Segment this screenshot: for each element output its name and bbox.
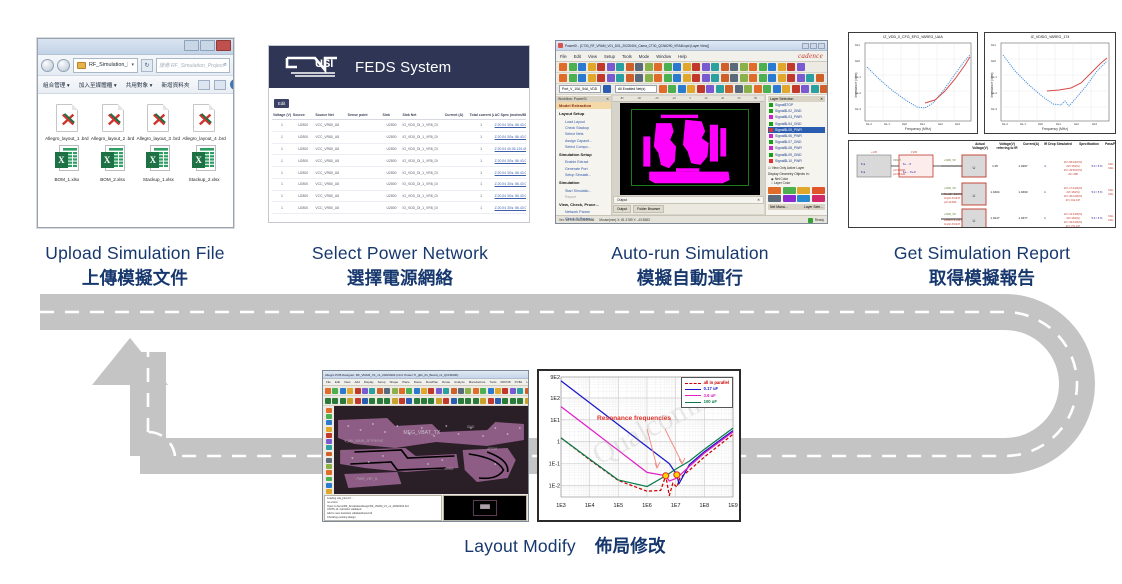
report-cell-ir-drop: dV=-39.6443(%) bbox=[1064, 221, 1082, 224]
menu-shape[interactable]: Shape bbox=[390, 380, 399, 384]
toolbar-button-icon[interactable] bbox=[369, 388, 375, 394]
side-tool-icon[interactable] bbox=[326, 427, 332, 432]
allegro-menu-bar[interactable]: FileEditViewAddDisplaySetupShapePlaceRou… bbox=[323, 379, 528, 386]
layer-label: Signal$L07_GND bbox=[775, 140, 801, 144]
toolbar-button-icon[interactable] bbox=[406, 388, 412, 394]
workflow-panel[interactable]: Workflow: PowerSI ✕ Model ExtractionLayo… bbox=[556, 95, 612, 215]
toolbar-button-icon[interactable] bbox=[510, 398, 516, 404]
table-row[interactable]: 1U2800VCC_VR80_U8U2800IG_VDD_DI_1_VR8_DI… bbox=[272, 202, 526, 214]
powersi-toolbar-secondary[interactable] bbox=[556, 73, 827, 84]
toolbar-button-icon[interactable] bbox=[716, 85, 724, 93]
close-icon[interactable] bbox=[216, 40, 231, 51]
toolbar-button-icon[interactable] bbox=[645, 63, 653, 71]
toolbar-button-icon[interactable] bbox=[702, 63, 710, 71]
command-share-with[interactable]: 共用對象 ▾ bbox=[126, 81, 153, 89]
menu-edit[interactable]: Edit bbox=[335, 380, 340, 384]
address-path-box[interactable]: RF_Simulation_Pr... ▾ bbox=[73, 58, 138, 73]
cell-voltage: 1 bbox=[272, 155, 292, 167]
toolbar-button-icon[interactable] bbox=[421, 398, 427, 404]
toolbar-button-icon[interactable] bbox=[778, 63, 786, 71]
toolbar-button-icon[interactable] bbox=[697, 85, 705, 93]
toolbar-button-icon[interactable] bbox=[820, 85, 827, 93]
x-tick-label: 1E3 bbox=[556, 503, 566, 509]
explorer-view-controls[interactable]: ? bbox=[198, 79, 234, 90]
toolbar-button-icon[interactable] bbox=[414, 398, 420, 404]
explorer-command-bar[interactable]: 組合管理 ▾ 加入至媒體櫃 ▾ 共用對象 ▾ 新增資料夾 ? bbox=[38, 76, 233, 94]
toolbar-button-icon[interactable] bbox=[773, 85, 781, 93]
toolbar-button-icon[interactable] bbox=[588, 74, 596, 82]
toolbar-button-icon[interactable] bbox=[473, 398, 479, 404]
net-selector[interactable]: All Enabled Net(s) bbox=[615, 85, 657, 93]
help-icon[interactable]: ? bbox=[230, 79, 234, 90]
toolbar-button-icon[interactable] bbox=[392, 398, 398, 404]
toolbar-button-icon[interactable] bbox=[559, 74, 567, 82]
powersi-title-bar[interactable]: PowerSI - [CT30_RF_VRAM_V01_D01_20220404… bbox=[556, 41, 827, 51]
maximize-button[interactable] bbox=[200, 40, 215, 51]
side-tool-icon[interactable] bbox=[326, 420, 332, 425]
side-tool-icon[interactable] bbox=[326, 483, 332, 488]
side-tool-icon[interactable] bbox=[326, 458, 332, 463]
layer-tool-icon[interactable] bbox=[812, 187, 825, 194]
toolbar-button-icon[interactable] bbox=[635, 63, 643, 71]
layer-tool-icon[interactable] bbox=[797, 195, 810, 202]
edit-button[interactable]: Edit bbox=[274, 99, 289, 108]
toolbar-button-icon[interactable] bbox=[377, 398, 383, 404]
legend-swatch bbox=[685, 402, 701, 403]
allegro-canvas[interactable]: MEG_VBAT_TX GND V_MK_MAIN_2P7P4P4S 4P338… bbox=[334, 406, 528, 494]
menu-route[interactable]: Route bbox=[442, 380, 450, 384]
toolbar-button-icon[interactable] bbox=[525, 388, 528, 394]
toolbar-button-icon[interactable] bbox=[626, 74, 634, 82]
menu-analyze[interactable]: Analyze bbox=[454, 380, 465, 384]
impedance-vs-frequency-chart[interactable]: 1E31E41E51E61E71E81E9 9E21E21E111E-11E-2… bbox=[537, 369, 741, 522]
report-cell-pass-fail: FAIL bbox=[1108, 192, 1114, 196]
toolbar-button-icon[interactable] bbox=[754, 85, 762, 93]
toolbar-button-icon[interactable] bbox=[384, 398, 390, 404]
menu-place[interactable]: Place bbox=[402, 380, 410, 384]
toolbar-button-icon[interactable] bbox=[654, 74, 662, 82]
allegro-toolbar-layers[interactable] bbox=[323, 396, 528, 406]
port-apply-icon[interactable] bbox=[603, 85, 611, 93]
svg-text:1E2: 1E2 bbox=[1074, 122, 1079, 126]
xlsx-file-icon: X bbox=[136, 142, 182, 176]
preview-pane-icon[interactable] bbox=[214, 80, 226, 90]
menu-manufacture[interactable]: Manufacture bbox=[469, 380, 486, 384]
toolbar-button-icon[interactable] bbox=[759, 63, 767, 71]
toolbar-button-icon[interactable] bbox=[510, 388, 516, 394]
dc-drop-report[interactable]: Actual Voltage(V) Voltage(V) referring t… bbox=[848, 140, 1116, 228]
toolbar-button-icon[interactable] bbox=[473, 388, 479, 394]
toolbar-button-icon[interactable] bbox=[369, 398, 375, 404]
screenshot-auto-run-simulation[interactable]: PowerSI - [CT30_RF_VRAM_V01_D01_20220404… bbox=[555, 40, 828, 224]
toolbar-button-icon[interactable] bbox=[436, 398, 442, 404]
menu-tools[interactable]: Tools bbox=[489, 380, 496, 384]
toolbar-button-icon[interactable] bbox=[678, 85, 686, 93]
toolbar-button-icon[interactable] bbox=[458, 398, 464, 404]
file-item[interactable]: X BOM_2.xlsx bbox=[90, 142, 136, 183]
toolbar-button-icon[interactable] bbox=[502, 398, 508, 404]
toolbar-button-icon[interactable] bbox=[480, 388, 486, 394]
output-tabs[interactable]: Output Folder Browser bbox=[613, 205, 764, 213]
toolbar-button-icon[interactable] bbox=[749, 63, 757, 71]
port-selector[interactable]: Port_V_10A_54A_VDD bbox=[559, 85, 601, 93]
toolbar-button-icon[interactable] bbox=[406, 398, 412, 404]
cell-sink: U2800 bbox=[382, 178, 402, 190]
screenshot-get-simulation-report[interactable]: IZ_VDD_0_CFG_EFG_VAREG_UAA Frequency (MH… bbox=[848, 32, 1116, 228]
power-network-table[interactable]: Voltage (V) Source Source Net Sense poin… bbox=[272, 111, 526, 214]
side-tool-icon[interactable] bbox=[326, 452, 332, 457]
layer-tool-icon[interactable] bbox=[783, 187, 796, 194]
toolbar-button-icon[interactable] bbox=[683, 63, 691, 71]
cell-spec: Z:20.04 3Gs: 86.43 0.0194 bbox=[494, 155, 526, 167]
tab-folder-browser[interactable]: Folder Browser bbox=[633, 205, 664, 213]
report-cell-ir-drop: dV=-39.5647(%) bbox=[1064, 169, 1082, 172]
toolbar-button-icon[interactable] bbox=[392, 388, 398, 394]
cell-sink: U2800 bbox=[382, 143, 402, 155]
toolbar-button-icon[interactable] bbox=[730, 63, 738, 71]
toolbar-button-icon[interactable] bbox=[340, 398, 346, 404]
layer-tool-icon[interactable] bbox=[812, 195, 825, 202]
toolbar-button-icon[interactable] bbox=[578, 63, 586, 71]
screenshot-layout-modify-editor[interactable]: Allegro PCB Designer: RF_VRAM_V1_v1_2022… bbox=[322, 370, 529, 522]
toolbar-button-icon[interactable] bbox=[806, 74, 814, 82]
explorer-file-pane[interactable]: Allegro_layout_1 .brd Allegro_layout_2 .… bbox=[38, 94, 233, 227]
powersi-menu-bar[interactable]: File Edit View Setup Tools Mode Window H… bbox=[556, 51, 827, 62]
toolbar-button-icon[interactable] bbox=[559, 63, 567, 71]
toolbar-button-icon[interactable] bbox=[668, 85, 676, 93]
file-row-xlsx: X BOM_1.xlsx X BOM_2.xlsx bbox=[44, 142, 227, 183]
toolbar-button-icon[interactable] bbox=[721, 74, 729, 82]
toolbar-button-icon[interactable] bbox=[340, 388, 346, 394]
menu-edit[interactable]: Edit bbox=[574, 54, 581, 59]
output-label: Output bbox=[617, 198, 627, 202]
toolbar-button-icon[interactable] bbox=[436, 388, 442, 394]
allegro-world-view[interactable] bbox=[443, 495, 527, 521]
menu-add[interactable]: Add bbox=[354, 380, 359, 384]
forward-icon[interactable] bbox=[57, 59, 70, 72]
layer-tool-icon[interactable] bbox=[783, 195, 796, 202]
toolbar-button-icon[interactable] bbox=[659, 85, 667, 93]
toolbar-button-icon[interactable] bbox=[692, 74, 700, 82]
toolbar-button-icon[interactable] bbox=[384, 388, 390, 394]
close-icon[interactable]: ✕ bbox=[606, 97, 609, 101]
table-row[interactable]: 1U2800VCC_VR80_U8U2800IG_VDD_DI_1_VR8_DI… bbox=[272, 120, 526, 132]
file-item[interactable]: X BOM_1.xlsx bbox=[44, 142, 90, 183]
side-tool-icon[interactable] bbox=[326, 445, 332, 450]
toolbar-button-icon[interactable] bbox=[792, 85, 800, 93]
file-item[interactable]: Allegro_layout_3 .brd bbox=[136, 101, 182, 142]
layout-canvas[interactable]: -80-60-40-200 20406080 bbox=[612, 95, 765, 215]
cell-sink-net: IG_VDD_DI_1_VR8_DI bbox=[401, 131, 443, 143]
menu-file[interactable]: File bbox=[326, 380, 331, 384]
side-tool-icon[interactable] bbox=[326, 414, 332, 419]
impedance-plot-left[interactable]: IZ_VDD_0_CFG_EFG_VAREG_UAA Frequency (MH… bbox=[848, 32, 978, 134]
radio-layer-color[interactable]: ○ Layer Color bbox=[768, 181, 825, 185]
file-item[interactable]: Allegro_layout_1 .brd bbox=[44, 101, 90, 142]
layer-color-swatch bbox=[769, 122, 773, 126]
toolbar-button-icon[interactable] bbox=[673, 63, 681, 71]
toolbar-button-icon[interactable] bbox=[428, 398, 434, 404]
explorer-title-bar[interactable] bbox=[38, 39, 233, 55]
toolbar-button-icon[interactable] bbox=[488, 398, 494, 404]
menu-setup[interactable]: Setup bbox=[378, 380, 386, 384]
toolbar-button-icon[interactable] bbox=[687, 85, 695, 93]
report-cell: 4 bbox=[1044, 164, 1046, 168]
toolbar-button-icon[interactable] bbox=[414, 388, 420, 394]
toolbar-button-icon[interactable] bbox=[811, 85, 819, 93]
toolbar-button-icon[interactable] bbox=[428, 388, 434, 394]
toolbar-button-icon[interactable] bbox=[735, 85, 743, 93]
window-controls[interactable] bbox=[802, 43, 825, 49]
console-line: Checking existing design. bbox=[327, 516, 439, 520]
toolbar-button-icon[interactable] bbox=[763, 85, 771, 93]
toolbar-button-icon[interactable] bbox=[399, 398, 405, 404]
toolbar-button-icon[interactable] bbox=[578, 74, 586, 82]
toolbar-button-icon[interactable] bbox=[362, 388, 368, 394]
table-row[interactable]: 1U2800VCC_VR80_U8U2800IG_VDD_DI_1_VR8_DI… bbox=[272, 178, 526, 190]
toolbar-button-icon[interactable] bbox=[588, 63, 596, 71]
powersi-toolbar-selectors[interactable]: Port_V_10A_54A_VDD All Enabled Net(s) bbox=[556, 84, 827, 95]
allegro-title-bar[interactable]: Allegro PCB Designer: RF_VRAM_V1_v1_2022… bbox=[323, 371, 528, 379]
toolbar-button-icon[interactable] bbox=[458, 388, 464, 394]
x-tick-label: 1E5 bbox=[614, 503, 624, 509]
command-new-folder[interactable]: 新增資料夾 bbox=[161, 81, 189, 89]
table-row[interactable]: 1U2800VCC_VR80_U8U2800IG_VDD_DI_1_VR8_DI… bbox=[272, 143, 526, 155]
maximize-button[interactable] bbox=[810, 43, 817, 49]
toolbar-button-icon[interactable] bbox=[488, 388, 494, 394]
tab-layer-selection[interactable]: Layer Sele... bbox=[804, 205, 823, 209]
toolbar-button-icon[interactable] bbox=[711, 74, 719, 82]
layer-label: Signal$L03_PWR bbox=[775, 115, 802, 119]
allegro-command-console[interactable]: Loading cds_plot.cnf ...no errors.Open C… bbox=[324, 495, 442, 521]
toolbar-button-icon[interactable] bbox=[740, 63, 748, 71]
menu-rfpcb[interactable]: RFPCB bbox=[500, 380, 510, 384]
side-tool-icon[interactable] bbox=[326, 464, 332, 469]
file-item[interactable]: Allegro_layout_2 .brd bbox=[90, 101, 136, 142]
toolbar-button-icon[interactable] bbox=[797, 63, 805, 71]
toolbar-button-icon[interactable] bbox=[465, 398, 471, 404]
toolbar-button-icon[interactable] bbox=[480, 398, 486, 404]
view-only-active-layer-checkbox[interactable]: ☑ View Only Active Layer bbox=[768, 166, 825, 170]
toolbar-button-icon[interactable] bbox=[502, 388, 508, 394]
change-view-icon[interactable] bbox=[198, 80, 210, 90]
table-row[interactable]: 1U2800VCC_VR80_U8U2800IG_VDD_DI_1_VR8_DI… bbox=[272, 155, 526, 167]
caption-en: Select Power Network bbox=[285, 241, 515, 266]
menu-display[interactable]: Display bbox=[364, 380, 374, 384]
toolbar-button-icon[interactable] bbox=[465, 388, 471, 394]
side-tool-icon[interactable] bbox=[326, 433, 332, 438]
toolbar-button-icon[interactable] bbox=[355, 398, 361, 404]
menu-view[interactable]: View bbox=[588, 54, 597, 59]
status-text: Ready bbox=[815, 218, 824, 222]
layer-tool-icon[interactable] bbox=[768, 187, 781, 194]
toolbar-button-icon[interactable] bbox=[517, 398, 523, 404]
toolbar-button-icon[interactable] bbox=[654, 63, 662, 71]
toolbar-button-icon[interactable] bbox=[645, 74, 653, 82]
feds-header: USI FEDS System bbox=[269, 46, 529, 88]
command-add-to-library[interactable]: 加入至媒體櫃 ▾ bbox=[79, 81, 117, 89]
close-icon[interactable] bbox=[818, 43, 825, 49]
toolbar-button-icon[interactable] bbox=[797, 74, 805, 82]
toolbar-button-icon[interactable] bbox=[525, 398, 528, 404]
toolbar-button-icon[interactable] bbox=[768, 63, 776, 71]
layer-color-swatch bbox=[769, 128, 773, 132]
pcb-copper-layer: MEG_VBAT_TX GND V_MK_MAIN_2P7P4P4S 4P338… bbox=[334, 406, 528, 494]
side-tool-icon[interactable] bbox=[326, 408, 332, 413]
impedance-plot-right[interactable]: IZ_VDSIG_VAREG_174 Frequency (MHz) Imped… bbox=[984, 32, 1116, 134]
cell-source-net: VCC_VR80_U8 bbox=[314, 131, 346, 143]
toolbar-button-icon[interactable] bbox=[355, 388, 361, 394]
layer-tool-icons[interactable] bbox=[768, 187, 825, 203]
side-tool-icon[interactable] bbox=[326, 470, 332, 475]
menu-setup[interactable]: Setup bbox=[604, 54, 615, 59]
layer-tool-icon[interactable] bbox=[768, 195, 781, 202]
toolbar-button-icon[interactable] bbox=[517, 388, 523, 394]
back-icon[interactable] bbox=[41, 59, 54, 72]
table-row[interactable]: 1U2800VCC_VR80_U8U2800IG_VDD_DI_1_VR8_DI… bbox=[272, 131, 526, 143]
toolbar-button-icon[interactable] bbox=[744, 85, 752, 93]
toolbar-button-icon[interactable] bbox=[451, 398, 457, 404]
allegro-side-toolbar[interactable] bbox=[323, 406, 334, 494]
side-tool-icon[interactable] bbox=[326, 439, 332, 444]
toolbar-button-icon[interactable] bbox=[749, 74, 757, 82]
toolbar-button-icon[interactable] bbox=[778, 74, 786, 82]
svg-text:1E-1: 1E-1 bbox=[855, 75, 861, 79]
refresh-icon[interactable]: ↻ bbox=[141, 59, 153, 72]
toolbar-button-icon[interactable] bbox=[347, 388, 353, 394]
menu-window[interactable]: Window bbox=[656, 54, 671, 59]
toolbar-button-icon[interactable] bbox=[569, 74, 577, 82]
output-panel[interactable]: Output ✕ Output Folder Browser bbox=[613, 196, 764, 214]
toolbar-button-icon[interactable] bbox=[635, 74, 643, 82]
file-item[interactable]: X Stackup_2.xlsx bbox=[181, 142, 227, 183]
svg-text:1E3: 1E3 bbox=[1092, 122, 1097, 126]
svg-text:1E1: 1E1 bbox=[855, 43, 860, 47]
toolbar-button-icon[interactable] bbox=[495, 388, 501, 394]
menu-tools[interactable]: Tools bbox=[622, 54, 632, 59]
toolbar-button-icon[interactable] bbox=[616, 74, 624, 82]
menu-help[interactable]: Help bbox=[526, 380, 529, 384]
toolbar-button-icon[interactable] bbox=[325, 388, 331, 394]
toolbar-button-icon[interactable] bbox=[664, 74, 672, 82]
explorer-address-bar[interactable]: RF_Simulation_Pr... ▾ ↻ 搜尋 RF_Simulation… bbox=[38, 55, 233, 76]
menu-flowplan[interactable]: FlowPlan bbox=[426, 380, 438, 384]
tab-output[interactable]: Output bbox=[613, 205, 631, 213]
cell-current bbox=[444, 202, 469, 214]
window-controls[interactable] bbox=[184, 40, 231, 51]
menu-file[interactable]: File bbox=[560, 54, 567, 59]
layer-color-swatch bbox=[769, 159, 773, 163]
layer-selection-panel[interactable]: Layer Selection ✕ Signal$TOPSignal$L02_G… bbox=[765, 95, 827, 215]
toolbar-button-icon[interactable] bbox=[377, 388, 383, 394]
toolbar-button-icon[interactable] bbox=[607, 63, 615, 71]
screenshot-select-power-network[interactable]: USI FEDS System Edit Voltage (V) Source … bbox=[268, 45, 530, 223]
command-organize[interactable]: 組合管理 ▾ bbox=[43, 81, 70, 89]
side-tool-icon[interactable] bbox=[326, 477, 332, 482]
toolbar-button-icon[interactable] bbox=[801, 85, 809, 93]
svg-text:Frequency (MHz): Frequency (MHz) bbox=[905, 127, 931, 131]
close-icon[interactable]: ✕ bbox=[757, 198, 760, 202]
menu-mode[interactable]: Mode bbox=[639, 54, 649, 59]
powersi-toolbar-primary[interactable] bbox=[556, 62, 827, 73]
caption-zh: 取得模擬報告 bbox=[867, 266, 1097, 291]
menu-pcbs[interactable]: PCBs bbox=[515, 380, 523, 384]
toolbar-button-icon[interactable] bbox=[332, 388, 338, 394]
toolbar-button-icon[interactable] bbox=[787, 74, 795, 82]
minimize-button[interactable] bbox=[184, 40, 199, 51]
file-item[interactable]: X Stackup_1.xlsx bbox=[136, 142, 182, 183]
toolbar-button-icon[interactable] bbox=[730, 74, 738, 82]
toolbar-button-icon[interactable] bbox=[421, 388, 427, 394]
toolbar-button-icon[interactable] bbox=[443, 398, 449, 404]
toolbar-button-icon[interactable] bbox=[706, 85, 714, 93]
toolbar-button-icon[interactable] bbox=[443, 388, 449, 394]
toolbar-button-icon[interactable] bbox=[616, 63, 624, 71]
menu-help[interactable]: Help bbox=[678, 54, 687, 59]
toolbar-button-icon[interactable] bbox=[495, 398, 501, 404]
table-row[interactable]: 1U2800VCC_VR80_U8U2800IG_VDD_DI_1_VR8_DI… bbox=[272, 190, 526, 202]
toolbar-button-icon[interactable] bbox=[332, 398, 338, 404]
screenshot-upload-simulation-file[interactable]: RF_Simulation_Pr... ▾ ↻ 搜尋 RF_Simulation… bbox=[37, 38, 234, 228]
toolbar-button-icon[interactable] bbox=[787, 63, 795, 71]
toolbar-button-icon[interactable] bbox=[607, 74, 615, 82]
toolbar-button-icon[interactable] bbox=[362, 398, 368, 404]
toolbar-button-icon[interactable] bbox=[816, 74, 824, 82]
right-panel-tabs[interactable]: Net Mana... Layer Sele... bbox=[768, 204, 825, 210]
menu-view[interactable]: View bbox=[344, 380, 350, 384]
toolbar-button-icon[interactable] bbox=[683, 74, 691, 82]
cell-sink-net: IG_VDD_DI_1_VR8_DI bbox=[401, 178, 443, 190]
menu-route[interactable]: Route bbox=[414, 380, 422, 384]
cell-current bbox=[444, 167, 469, 179]
toolbar-button-icon[interactable] bbox=[451, 388, 457, 394]
toolbar-button-icon[interactable] bbox=[721, 63, 729, 71]
file-item[interactable]: Allegro_layout_4 .brd bbox=[181, 101, 227, 142]
toolbar-button-icon[interactable] bbox=[626, 63, 634, 71]
caption-zh: 模擬自動運行 bbox=[575, 266, 805, 291]
col-ir-drop: IR Drop Simulated bbox=[1041, 143, 1075, 151]
chevron-down-icon[interactable]: ▾ bbox=[131, 62, 134, 68]
toolbar-button-icon[interactable] bbox=[347, 398, 353, 404]
toolbar-button-icon[interactable] bbox=[759, 74, 767, 82]
close-icon[interactable]: ✕ bbox=[820, 97, 823, 101]
layer-tool-icon[interactable] bbox=[797, 187, 810, 194]
minimize-button[interactable] bbox=[802, 43, 809, 49]
toolbar-button-icon[interactable] bbox=[740, 74, 748, 82]
toolbar-button-icon[interactable] bbox=[692, 63, 700, 71]
explorer-search-box[interactable]: 搜尋 RF_Simulation_Project ⌕ bbox=[156, 58, 230, 73]
toolbar-button-icon[interactable] bbox=[597, 74, 605, 82]
toolbar-button-icon[interactable] bbox=[664, 63, 672, 71]
toolbar-button-icon[interactable] bbox=[725, 85, 733, 93]
tab-net-manager[interactable]: Net Mana... bbox=[770, 205, 788, 209]
toolbar-button-icon[interactable] bbox=[569, 63, 577, 71]
toolbar-button-icon[interactable] bbox=[399, 388, 405, 394]
toolbar-button-icon[interactable] bbox=[782, 85, 790, 93]
side-tool-icon[interactable] bbox=[326, 489, 332, 494]
table-row[interactable]: 1U2800VCC_VR80_U8U2800IG_VDD_DI_1_VR8_DI… bbox=[272, 167, 526, 179]
pcb-view[interactable] bbox=[620, 103, 760, 195]
layer-item[interactable]: Signal$L10_PWR bbox=[768, 158, 825, 164]
toolbar-button-icon[interactable] bbox=[673, 74, 681, 82]
toolbar-button-icon[interactable] bbox=[325, 398, 331, 404]
toolbar-button-icon[interactable] bbox=[597, 63, 605, 71]
caption-zh: 選擇電源網絡 bbox=[285, 266, 515, 291]
toolbar-button-icon[interactable] bbox=[711, 63, 719, 71]
toolbar-button-icon[interactable] bbox=[702, 74, 710, 82]
allegro-toolbar-primary[interactable] bbox=[323, 386, 528, 396]
toolbar-button-icon[interactable] bbox=[768, 74, 776, 82]
